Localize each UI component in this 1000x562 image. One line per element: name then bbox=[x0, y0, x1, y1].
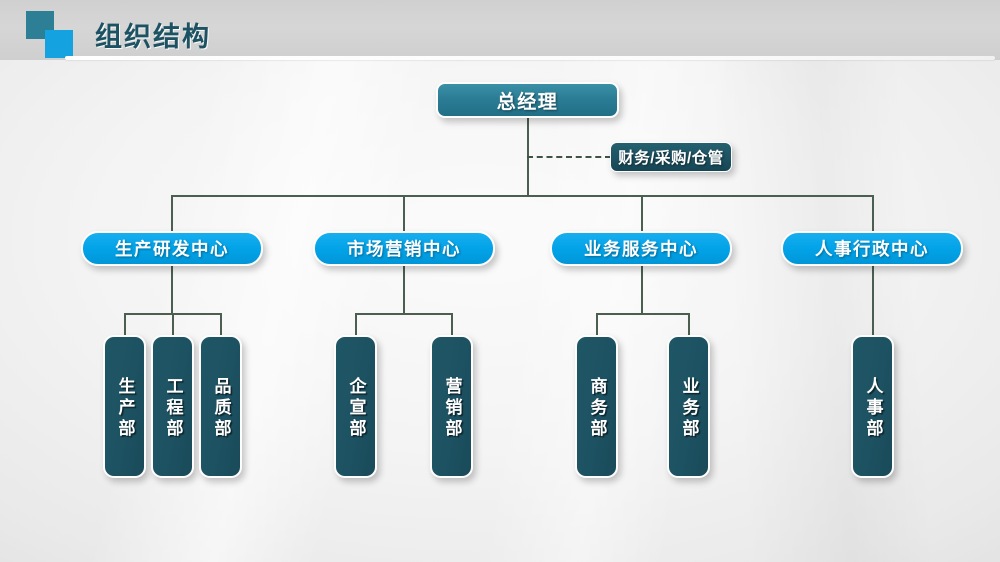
node-dept-corporate-publicity[interactable]: 企宣部 bbox=[334, 335, 377, 478]
node-staff-finance-procurement-warehouse[interactable]: 财务/采购/仓管 bbox=[610, 142, 732, 172]
connector-sub-stem-4 bbox=[872, 265, 874, 336]
node-dept-sales-label: 营销部 bbox=[441, 377, 461, 440]
node-center-hr-admin-label: 人事行政中心 bbox=[815, 236, 929, 261]
node-dept-corporate-publicity-label: 企宣部 bbox=[345, 377, 365, 440]
slide-canvas: 组织结构 总经理 财务/采购/仓管 生产研发中心 市场营销中心 业务服务中心 bbox=[0, 0, 1000, 562]
node-general-manager[interactable]: 总经理 bbox=[436, 82, 619, 118]
node-dept-sales[interactable]: 营销部 bbox=[430, 335, 473, 478]
connector-dept-drop-3-2 bbox=[688, 313, 690, 336]
node-dept-human-resources-label: 人事部 bbox=[862, 377, 882, 440]
connector-sub-stem-3 bbox=[641, 265, 643, 313]
connector-dept-drop-2-1 bbox=[355, 313, 357, 336]
page-title: 组织结构 bbox=[95, 15, 211, 54]
connector-sub-stem-2 bbox=[403, 265, 405, 313]
node-center-business-service[interactable]: 业务服务中心 bbox=[550, 231, 732, 266]
connector-sub-bus-2 bbox=[355, 313, 451, 315]
connector-center-drop-1 bbox=[171, 195, 173, 232]
connector-dept-drop-1-2 bbox=[172, 313, 174, 336]
node-dept-engineering-label: 工程部 bbox=[162, 377, 182, 440]
node-dept-business-label: 业务部 bbox=[678, 377, 698, 440]
node-center-production-rd-label: 生产研发中心 bbox=[115, 236, 229, 261]
node-center-production-rd[interactable]: 生产研发中心 bbox=[81, 231, 263, 266]
connector-staff-dashed bbox=[527, 156, 611, 158]
header-divider bbox=[65, 56, 995, 60]
node-center-business-service-label: 业务服务中心 bbox=[584, 236, 698, 261]
connector-sub-bus-3 bbox=[596, 313, 688, 315]
connector-dept-drop-1-1 bbox=[124, 313, 126, 336]
node-dept-engineering[interactable]: 工程部 bbox=[151, 335, 194, 478]
node-center-marketing-label: 市场营销中心 bbox=[347, 236, 461, 261]
connector-center-drop-2 bbox=[403, 195, 405, 232]
node-dept-production-label: 生产部 bbox=[114, 377, 134, 440]
node-dept-commerce[interactable]: 商务部 bbox=[575, 335, 618, 478]
node-dept-production[interactable]: 生产部 bbox=[103, 335, 146, 478]
connector-center-drop-3 bbox=[641, 195, 643, 232]
connector-center-drop-4 bbox=[872, 195, 874, 232]
connector-dept-drop-1-3 bbox=[220, 313, 222, 336]
node-center-marketing[interactable]: 市场营销中心 bbox=[313, 231, 495, 266]
connector-centers-bus bbox=[171, 195, 873, 197]
node-dept-commerce-label: 商务部 bbox=[586, 377, 606, 440]
connector-dept-drop-2-2 bbox=[451, 313, 453, 336]
connector-dept-drop-3-1 bbox=[596, 313, 598, 336]
node-dept-quality-label: 品质部 bbox=[210, 377, 230, 440]
connector-sub-stem-1 bbox=[171, 265, 173, 313]
node-dept-business[interactable]: 业务部 bbox=[667, 335, 710, 478]
logo-square-light-icon bbox=[45, 30, 73, 58]
node-general-manager-label: 总经理 bbox=[497, 87, 559, 114]
slide-header: 组织结构 bbox=[0, 0, 1000, 62]
node-dept-quality[interactable]: 品质部 bbox=[199, 335, 242, 478]
node-dept-human-resources[interactable]: 人事部 bbox=[851, 335, 894, 478]
node-staff-label: 财务/采购/仓管 bbox=[618, 146, 724, 168]
node-center-hr-admin[interactable]: 人事行政中心 bbox=[781, 231, 963, 266]
